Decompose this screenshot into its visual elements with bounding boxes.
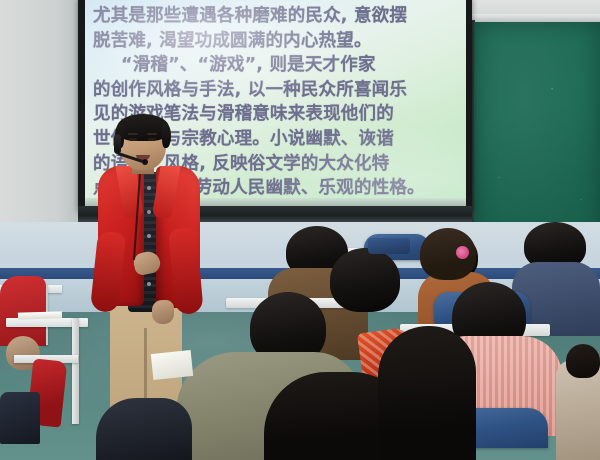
audience-head-far-right-edge [566, 344, 600, 378]
slide-line-2: 脱苦难, 渴望功成圆满的内心热望。 [93, 29, 458, 54]
presenter-eyebrow-left [128, 133, 138, 135]
paper-on-desk [151, 350, 193, 380]
slide-line-1: 尤其是那些遭遇各种磨难的民众, 意欲摆 [93, 4, 458, 29]
presenter-eye-right [148, 138, 156, 141]
green-chalkboard [474, 22, 600, 244]
presenter-eye-left [129, 138, 137, 141]
presenter-torso [98, 166, 198, 312]
presenter-hair-right-side [162, 124, 171, 148]
audience-head-right-long-hair [378, 326, 476, 460]
headset-microphone-band [114, 134, 121, 154]
slide-line-3: “滑稽”、“游戏”, 则是天才作家 [93, 53, 458, 78]
pink-flower-hair-clip-icon [456, 246, 469, 259]
audience-body-front-left [96, 398, 192, 460]
classroom-scene: 尤其是那些遭遇各种磨难的民众, 意欲摆 脱苦难, 渴望功成圆满的内心热望。 “滑… [0, 0, 600, 460]
presenter-eyebrow-right [147, 133, 157, 135]
desk-front-leg [72, 318, 79, 424]
headset-microphone-capsule [142, 159, 148, 165]
dark-bag [0, 392, 40, 444]
pencil-case [368, 238, 410, 254]
slide-line-4: 的创作风格与手法, 以一种民众所喜闻乐 [93, 78, 458, 103]
book-on-desk [18, 311, 62, 319]
presenter-hand-right [152, 300, 174, 324]
audience-head-center-middle [330, 248, 400, 312]
